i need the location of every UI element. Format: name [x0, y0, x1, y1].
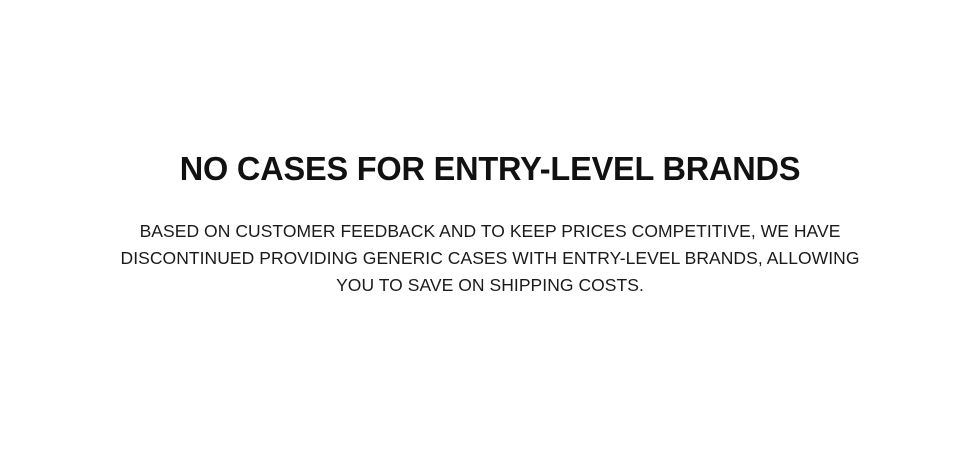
banner-body-text: BASED ON CUSTOMER FEEDBACK AND TO KEEP P… [90, 218, 890, 299]
banner-body-line-1: BASED ON CUSTOMER FEEDBACK AND TO KEEP P… [90, 218, 890, 245]
banner-content-wrapper: NO CASES FOR ENTRY-LEVEL BRANDS BASED ON… [50, 152, 930, 299]
banner-body-line-2: DISCONTINUED PROVIDING GENERIC CASES WIT… [90, 245, 890, 272]
info-banner-section: NO CASES FOR ENTRY-LEVEL BRANDS BASED ON… [0, 0, 980, 450]
banner-heading: NO CASES FOR ENTRY-LEVEL BRANDS [180, 152, 801, 186]
banner-body-line-3: YOU TO SAVE ON SHIPPING COSTS. [90, 272, 890, 299]
